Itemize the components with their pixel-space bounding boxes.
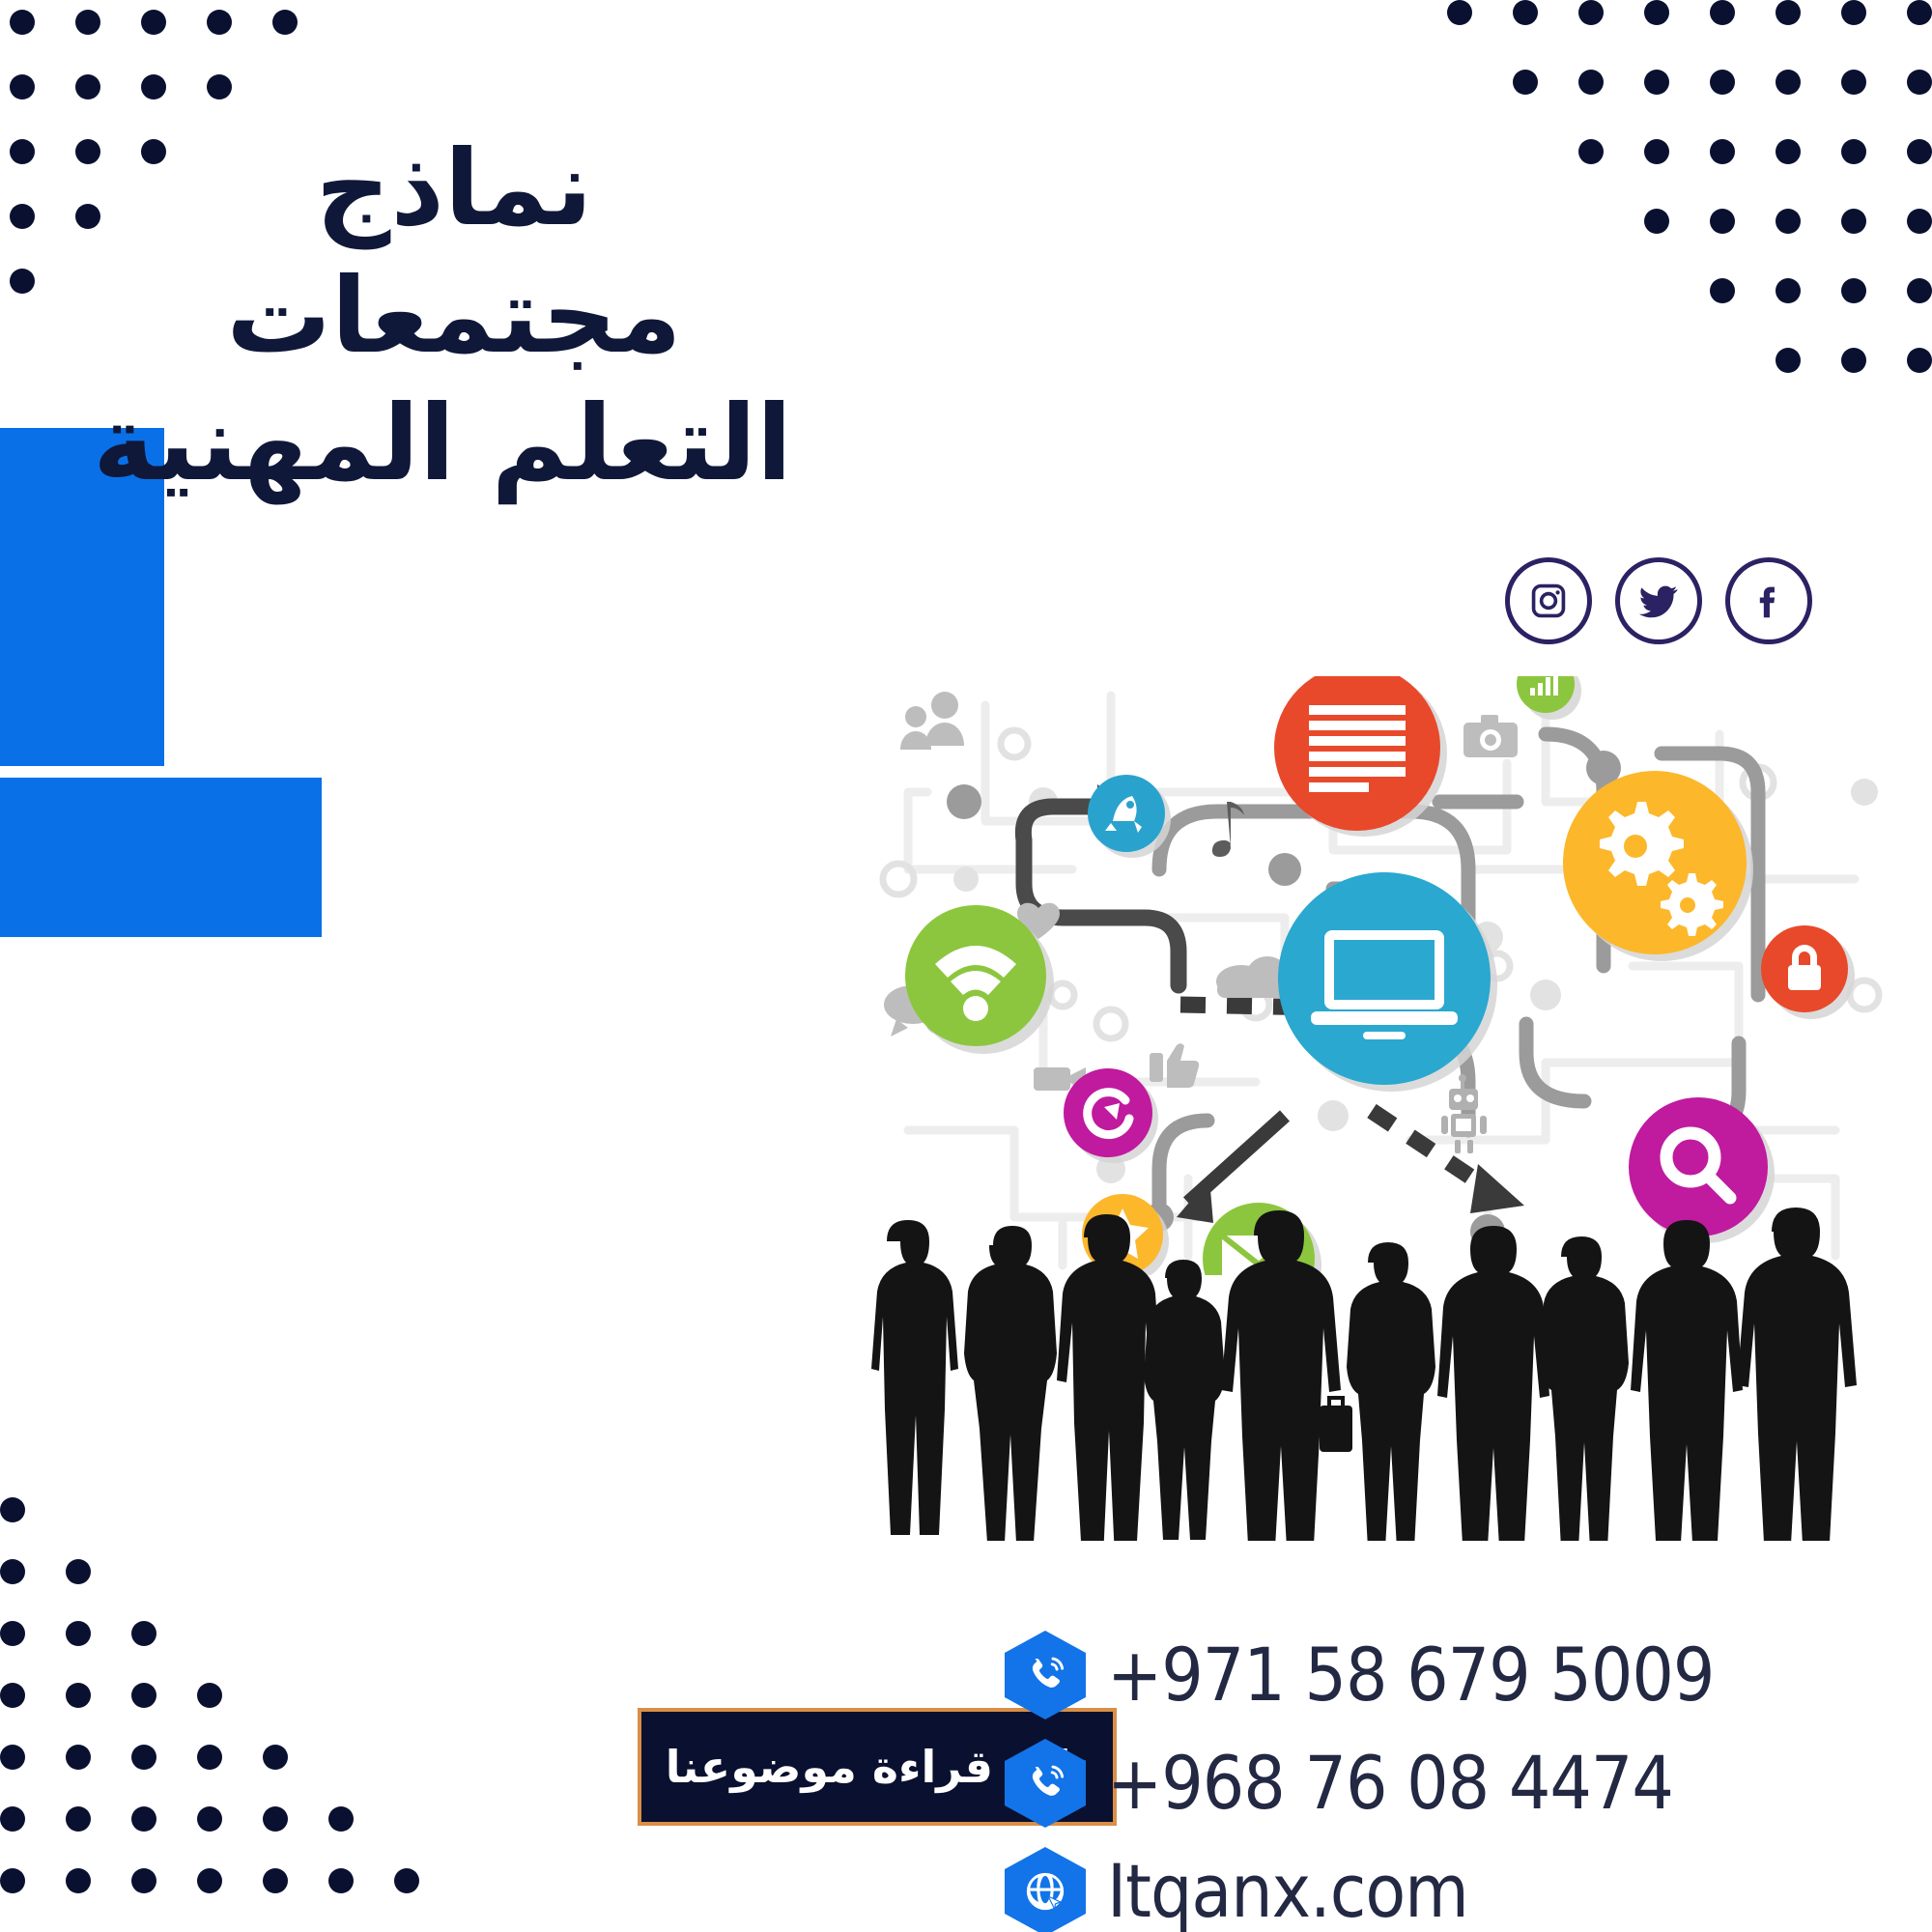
decor-dot xyxy=(66,1559,91,1584)
decor-dot xyxy=(10,269,35,294)
decor-dot xyxy=(75,10,100,35)
decor-dot xyxy=(1776,139,1801,164)
decor-dot xyxy=(1578,0,1604,25)
decor-dot xyxy=(66,1868,91,1893)
camera-icon xyxy=(1463,715,1518,757)
decor-dot xyxy=(10,74,35,99)
instagram-icon[interactable] xyxy=(1505,557,1592,644)
globe-cursor-icon xyxy=(1005,1847,1086,1932)
silhouette-8 xyxy=(1540,1236,1629,1541)
decor-dot xyxy=(1776,278,1801,303)
gears-node xyxy=(1563,771,1747,954)
decor-dot xyxy=(10,139,35,164)
silhouette-7 xyxy=(1437,1226,1549,1541)
contact-row[interactable]: Itqanx.com xyxy=(1005,1847,1913,1932)
blue-block-wide xyxy=(0,778,322,937)
decor-dot xyxy=(1644,0,1669,25)
decor-dot xyxy=(1578,139,1604,164)
silhouette-6 xyxy=(1347,1242,1435,1541)
decor-dot xyxy=(75,139,100,164)
decor-dot xyxy=(1841,278,1866,303)
silhouette-2 xyxy=(964,1226,1057,1541)
contact-row[interactable]: +971 58 679 5009 xyxy=(1005,1631,1913,1719)
dot-pattern-bottom-left xyxy=(0,1497,454,1932)
silhouette-10 xyxy=(1737,1207,1857,1541)
decor-dot xyxy=(75,204,100,229)
decor-dot xyxy=(1841,70,1866,95)
decor-dot xyxy=(207,10,232,35)
decor-dot xyxy=(141,10,166,35)
decor-dot xyxy=(1776,209,1801,234)
facebook-icon[interactable] xyxy=(1725,557,1812,644)
decor-dot xyxy=(263,1868,288,1893)
decor-dot xyxy=(0,1559,25,1584)
phone-call-icon xyxy=(1005,1631,1086,1719)
contact-row[interactable]: +968 76 08 4474 xyxy=(1005,1739,1913,1828)
network-technology-illustration xyxy=(869,676,1913,1275)
decor-dot xyxy=(0,1806,25,1832)
decor-dot xyxy=(328,1868,354,1893)
silhouette-5 xyxy=(1221,1210,1352,1541)
decor-dot xyxy=(1907,278,1932,303)
decor-dot xyxy=(1841,209,1866,234)
users-icon xyxy=(900,692,964,750)
decor-dot xyxy=(1447,0,1472,25)
dot-pattern-top-right xyxy=(1449,0,1932,406)
decor-dot xyxy=(1776,70,1801,95)
decor-dot xyxy=(131,1745,156,1770)
decor-dot xyxy=(131,1868,156,1893)
decor-dot xyxy=(1710,70,1735,95)
decor-dot xyxy=(197,1745,222,1770)
silhouette-4 xyxy=(1144,1260,1225,1540)
decor-dot xyxy=(1513,70,1538,95)
decor-dot xyxy=(197,1683,222,1708)
decor-dot xyxy=(10,10,35,35)
refresh-node xyxy=(1064,1068,1152,1157)
decor-dot xyxy=(131,1621,156,1646)
decor-dot xyxy=(1578,70,1604,95)
decor-dot xyxy=(1907,70,1932,95)
decor-dot xyxy=(1907,209,1932,234)
decor-dot xyxy=(197,1868,222,1893)
silhouette-9 xyxy=(1631,1220,1743,1541)
decor-dot xyxy=(131,1683,156,1708)
laptop-node xyxy=(1278,872,1491,1085)
decor-dot xyxy=(1513,0,1538,25)
decor-dot xyxy=(1710,278,1735,303)
people-silhouettes xyxy=(850,1203,1922,1541)
phone-number-1: +971 58 679 5009 xyxy=(1107,1638,1714,1712)
twitter-icon[interactable] xyxy=(1615,557,1702,644)
decor-dot xyxy=(1841,0,1866,25)
decor-dot xyxy=(263,1745,288,1770)
decor-dot xyxy=(1644,139,1669,164)
decor-dot xyxy=(0,1745,25,1770)
decor-dot xyxy=(66,1683,91,1708)
social-links xyxy=(1505,557,1812,644)
decor-dot xyxy=(1710,0,1735,25)
decor-dot xyxy=(263,1806,288,1832)
page-title: نماذج مجتمعات التعلم المهنية xyxy=(116,126,792,507)
decor-dot xyxy=(0,1621,25,1646)
lock-node xyxy=(1761,925,1848,1012)
decor-dot xyxy=(1710,209,1735,234)
decor-dot xyxy=(0,1868,25,1893)
headline-line-1: نماذج xyxy=(116,126,792,253)
headline-line-2: مجتمعات xyxy=(116,253,792,381)
decor-dot xyxy=(1776,0,1801,25)
rocket-node xyxy=(1088,775,1165,852)
website-url: Itqanx.com xyxy=(1107,1855,1468,1928)
decor-dot xyxy=(1907,348,1932,373)
decor-dot xyxy=(66,1806,91,1832)
wifi-node xyxy=(905,905,1046,1046)
decor-dot xyxy=(1841,139,1866,164)
decor-dot xyxy=(66,1621,91,1646)
decor-dot xyxy=(1841,348,1866,373)
decor-dot xyxy=(141,74,166,99)
decor-dot xyxy=(1776,348,1801,373)
decor-dot xyxy=(1710,139,1735,164)
decor-dot xyxy=(0,1683,25,1708)
contact-info: +971 58 679 5009 +968 76 08 4474 Itqanx.… xyxy=(1005,1631,1913,1932)
silhouette-1 xyxy=(871,1220,958,1535)
phone-number-2: +968 76 08 4474 xyxy=(1107,1747,1673,1820)
thumbs-up-icon xyxy=(1150,1043,1199,1088)
decor-dot xyxy=(66,1745,91,1770)
decor-dot xyxy=(10,204,35,229)
decor-dot xyxy=(1644,209,1669,234)
decor-dot xyxy=(131,1806,156,1832)
decor-dot xyxy=(207,74,232,99)
decor-dot xyxy=(1907,0,1932,25)
decor-dot xyxy=(272,10,298,35)
decor-dot xyxy=(0,1497,25,1522)
decor-dot xyxy=(75,74,100,99)
decor-dot xyxy=(1644,70,1669,95)
decor-dot xyxy=(394,1868,419,1893)
decor-dot xyxy=(197,1806,222,1832)
decor-dot xyxy=(328,1806,354,1832)
decor-dot xyxy=(1907,139,1932,164)
headline-line-3: التعلم المهنية xyxy=(116,381,792,508)
phone-call-icon xyxy=(1005,1739,1086,1828)
